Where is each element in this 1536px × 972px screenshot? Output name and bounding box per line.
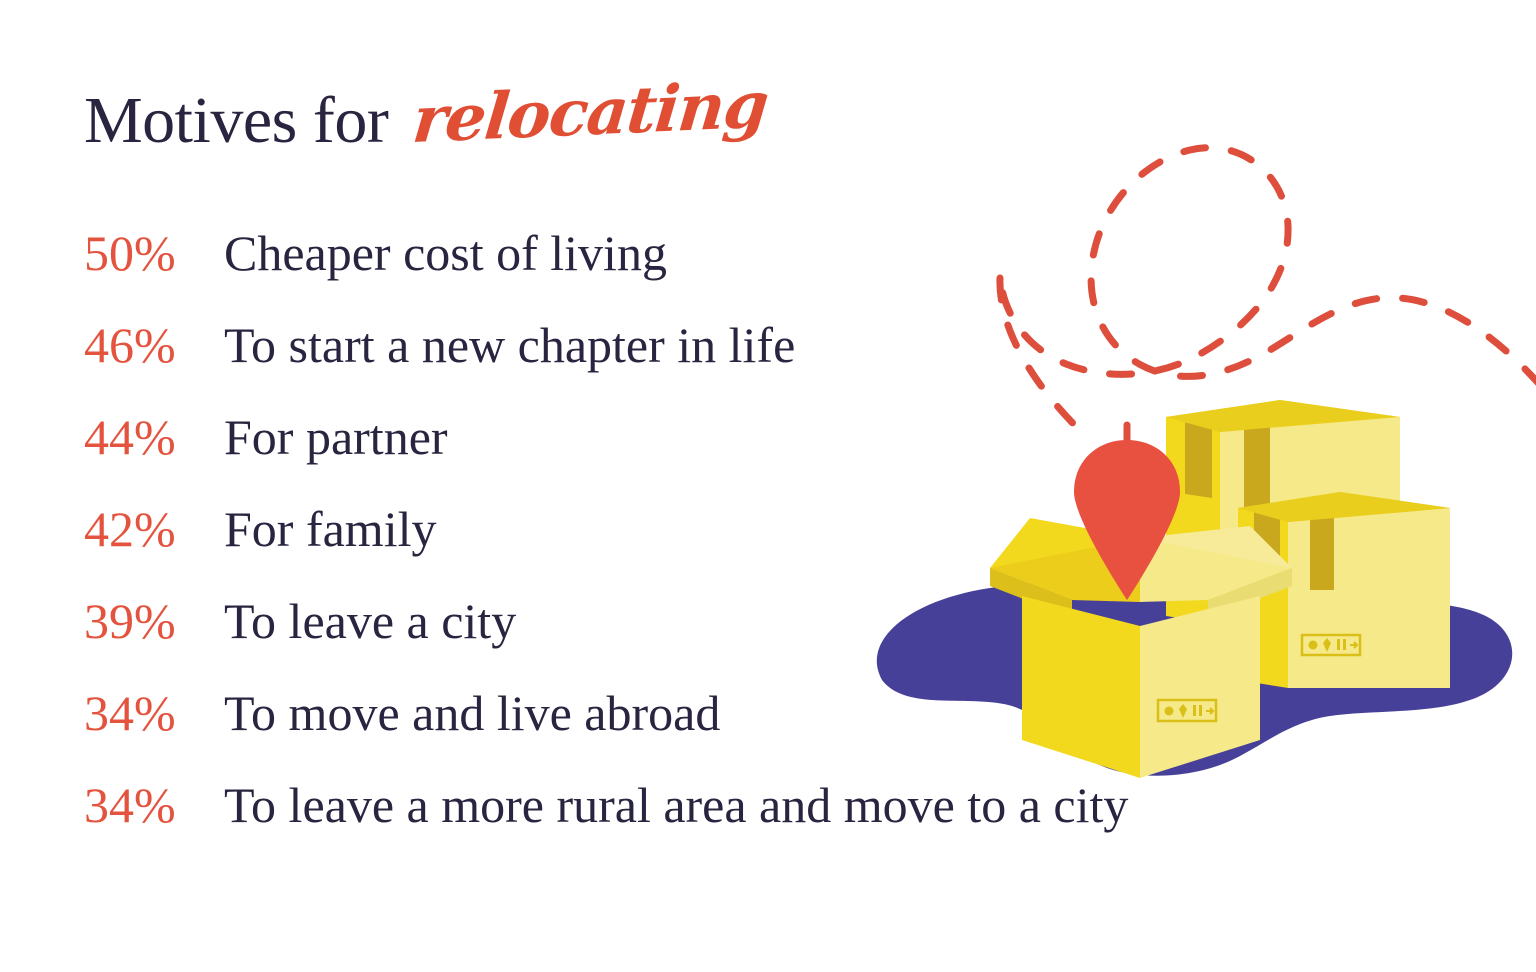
stat-label: To start a new chapter in life bbox=[224, 320, 795, 370]
page-title-script: relocating bbox=[410, 74, 770, 153]
stat-label: For family bbox=[224, 504, 436, 554]
infographic-canvas: Motives for relocating 50% Cheaper cost … bbox=[0, 0, 1536, 972]
stat-percentage: 50% bbox=[84, 228, 224, 278]
stat-percentage: 39% bbox=[84, 596, 224, 646]
page-title-main: Motives for bbox=[84, 88, 388, 154]
stat-label: For partner bbox=[224, 412, 448, 462]
stat-percentage: 34% bbox=[84, 780, 224, 830]
moving-boxes-illustration bbox=[840, 40, 1536, 820]
page-title: Motives for relocating bbox=[84, 88, 762, 154]
stat-percentage: 44% bbox=[84, 412, 224, 462]
stat-percentage: 42% bbox=[84, 504, 224, 554]
stat-percentage: 46% bbox=[84, 320, 224, 370]
stat-label: To leave a city bbox=[224, 596, 516, 646]
stat-label: To move and live abroad bbox=[224, 688, 720, 738]
stat-percentage: 34% bbox=[84, 688, 224, 738]
stat-label: Cheaper cost of living bbox=[224, 228, 667, 278]
